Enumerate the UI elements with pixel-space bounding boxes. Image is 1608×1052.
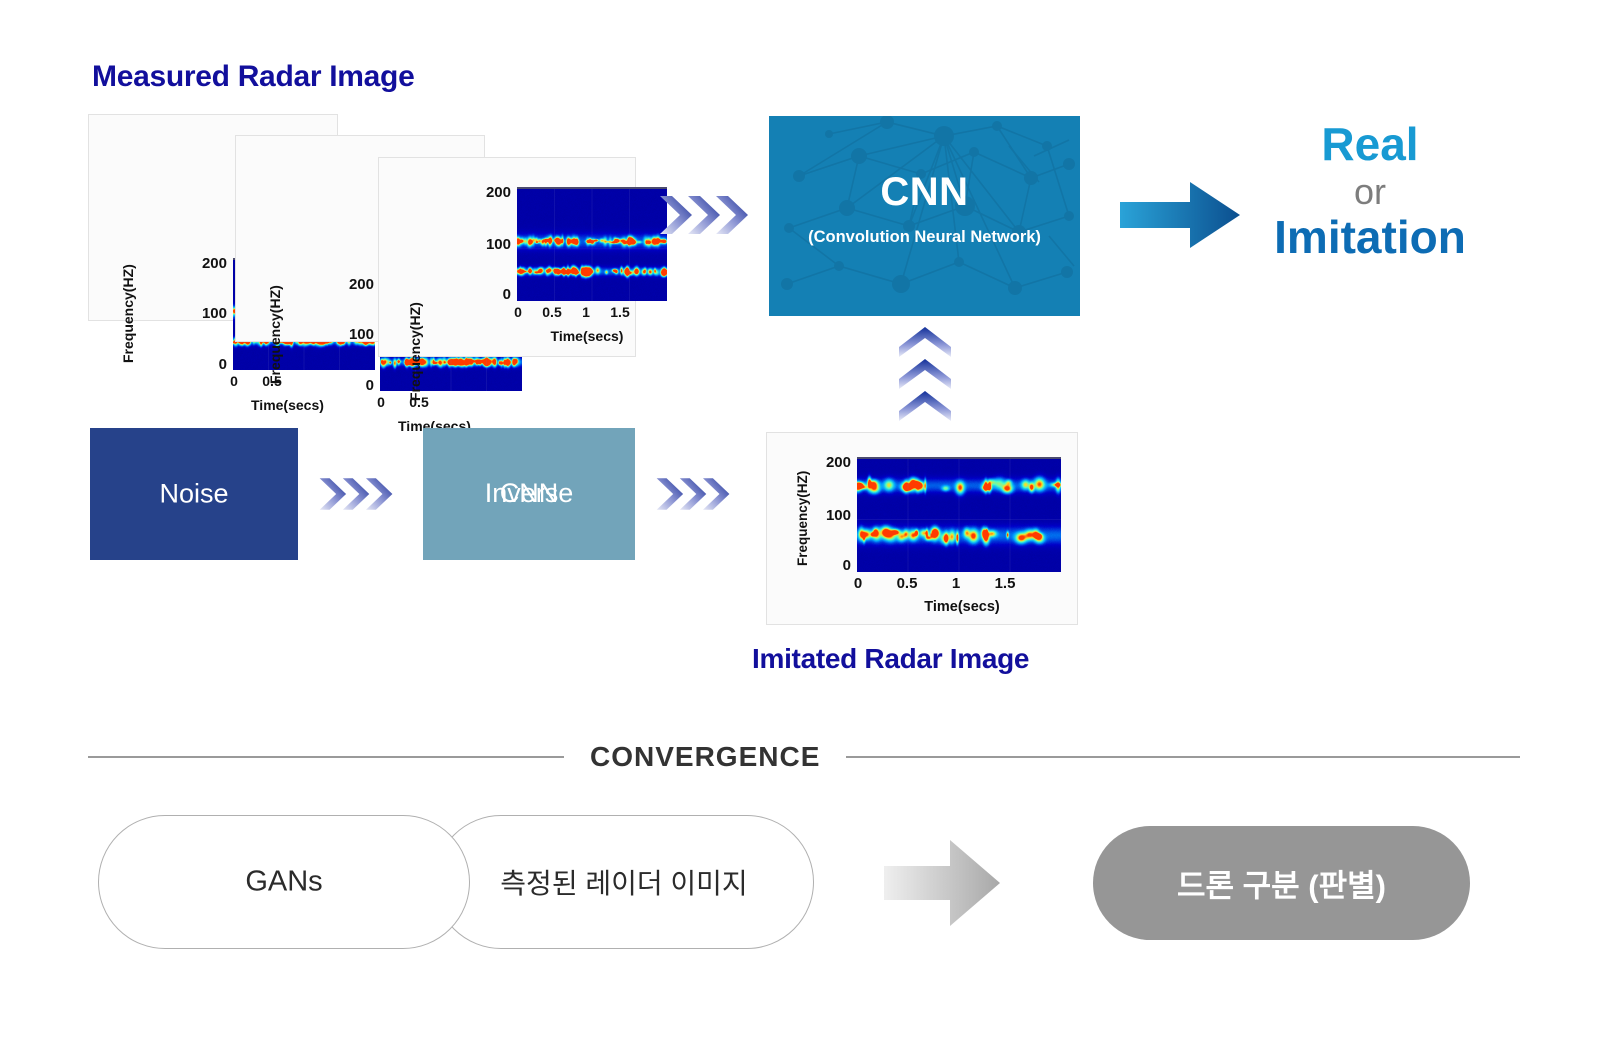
verdict-block: Real or Imitation [1245, 120, 1495, 262]
inverse-cnn-label: InverseCNN [423, 478, 635, 510]
imitated-radar-card: Frequency(HZ) 200 100 0 0 0.5 1 1.5 Time… [766, 432, 1078, 625]
cnn-block[interactable]: CNN (Convolution Neural Network) [769, 116, 1080, 316]
y-tick-100: 100 [193, 305, 227, 322]
flow-arrow-cnn-to-verdict [1120, 180, 1240, 250]
x-axis-label: Time(secs) [251, 397, 371, 413]
flow-arrow-measured-to-cnn [658, 192, 762, 238]
convergence-divider: CONVERGENCE [88, 738, 1520, 776]
cnn-sublabel: (Convolution Neural Network) [769, 228, 1080, 247]
x-tick-0.5: 0.5 [891, 575, 923, 592]
convergence-label: CONVERGENCE [564, 741, 846, 773]
verdict-imitation: Imitation [1245, 213, 1495, 262]
measured-radar-card-3: Frequency(HZ) 200 100 0 0 0.5 1 1.5 Time… [378, 157, 636, 357]
noise-block[interactable]: Noise [90, 428, 298, 560]
cnn-label: CNN [769, 170, 1080, 215]
flow-arrow-convergence-to-result [884, 836, 1000, 930]
divider-line-left [88, 756, 564, 758]
y-axis-label: Frequency(HZ) [795, 471, 810, 566]
x-tick-0: 0 [370, 394, 392, 410]
y-tick-200: 200 [477, 184, 511, 201]
y-tick-0: 0 [817, 557, 851, 574]
x-tick-1.5: 1.5 [989, 575, 1021, 592]
y-tick-100: 100 [340, 326, 374, 343]
flow-arrow-imitated-to-cnn [897, 326, 953, 424]
imitated-radar-image-title: Imitated Radar Image [752, 643, 1029, 675]
x-tick-1.5: 1.5 [604, 304, 636, 320]
y-tick-100: 100 [817, 507, 851, 524]
spectrogram-plot [517, 187, 667, 301]
y-tick-0: 0 [340, 377, 374, 394]
inverse-cnn-block[interactable]: InverseCNN [423, 428, 635, 560]
flow-arrow-inverse-cnn-to-imitated [655, 471, 741, 517]
y-tick-0: 0 [193, 356, 227, 373]
x-tick-0: 0 [847, 575, 869, 592]
noise-label: Noise [90, 479, 298, 510]
measured-radar-image-title: Measured Radar Image [92, 60, 414, 94]
y-tick-0: 0 [477, 286, 511, 303]
divider-line-right [846, 756, 1520, 758]
y-tick-200: 200 [817, 454, 851, 471]
x-axis-label: Time(secs) [507, 328, 667, 344]
verdict-real: Real [1245, 120, 1495, 169]
y-tick-100: 100 [477, 236, 511, 253]
x-tick-0: 0 [223, 373, 245, 389]
diagram-canvas: Measured Radar Image Frequency(HZ) 200 1… [0, 0, 1608, 1052]
y-axis-label: Frequency(HZ) [267, 285, 283, 384]
spectrogram-plot [857, 457, 1061, 572]
pill-gans-label: GANs [99, 866, 469, 899]
result-block-drone-classification[interactable]: 드론 구분 (판별) [1093, 826, 1470, 940]
x-tick-1: 1 [575, 304, 597, 320]
y-tick-200: 200 [193, 255, 227, 272]
x-tick-0: 0 [507, 304, 529, 320]
x-axis-label: Time(secs) [877, 599, 1047, 615]
pill-measured-label: 측정된 레이더 이미지 [435, 862, 813, 902]
x-tick-1: 1 [945, 575, 967, 592]
neural-network-pattern-icon [769, 116, 1080, 316]
pill-gans[interactable]: GANs [98, 815, 470, 949]
result-label: 드론 구분 (판별) [1093, 861, 1470, 906]
pill-measured-radar-image[interactable]: 측정된 레이더 이미지 [434, 815, 814, 949]
y-tick-200: 200 [340, 276, 374, 293]
flow-arrow-noise-to-inverse-cnn [318, 471, 404, 517]
y-axis-label: Frequency(HZ) [120, 264, 136, 363]
x-tick-0.5: 0.5 [536, 304, 568, 320]
verdict-or: or [1245, 173, 1495, 211]
y-axis-label: Frequency(HZ) [407, 302, 423, 401]
inverse-cnn-line2: CNN [423, 478, 635, 510]
